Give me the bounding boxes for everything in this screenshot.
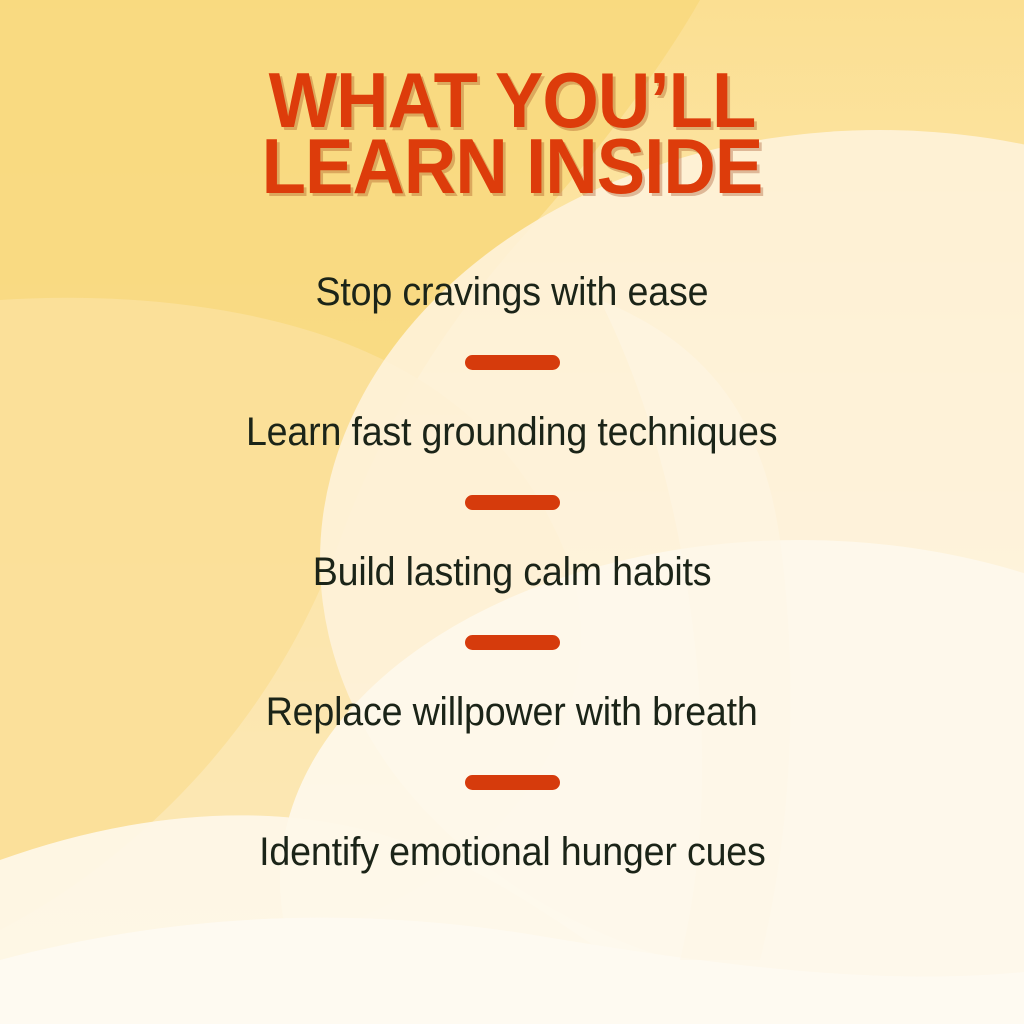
- list-item: Stop cravings with ease: [0, 262, 1024, 402]
- divider-bar: [465, 495, 560, 510]
- list-item: Learn fast grounding techniques: [0, 402, 1024, 542]
- benefit-text: Learn fast grounding techniques: [246, 402, 777, 464]
- list-item: Replace willpower with breath: [0, 682, 1024, 822]
- divider-bar: [465, 635, 560, 650]
- list-item: Build lasting calm habits: [0, 542, 1024, 682]
- poster-canvas: WHAT YOU’LL LEARN INSIDE Stop cravings w…: [0, 0, 1024, 1024]
- benefits-list: Stop cravings with ease Learn fast groun…: [0, 262, 1024, 884]
- benefit-text: Build lasting calm habits: [313, 542, 712, 604]
- list-item: Identify emotional hunger cues: [0, 822, 1024, 884]
- divider-bar: [465, 775, 560, 790]
- poster-content: WHAT YOU’LL LEARN INSIDE Stop cravings w…: [0, 0, 1024, 1024]
- benefit-text: Replace willpower with breath: [266, 682, 758, 744]
- benefit-text: Stop cravings with ease: [316, 262, 709, 324]
- page-title: WHAT YOU’LL LEARN INSIDE: [36, 68, 988, 199]
- benefit-text: Identify emotional hunger cues: [259, 822, 765, 884]
- page-title-line-2: LEARN INSIDE: [36, 134, 988, 200]
- divider-bar: [465, 355, 560, 370]
